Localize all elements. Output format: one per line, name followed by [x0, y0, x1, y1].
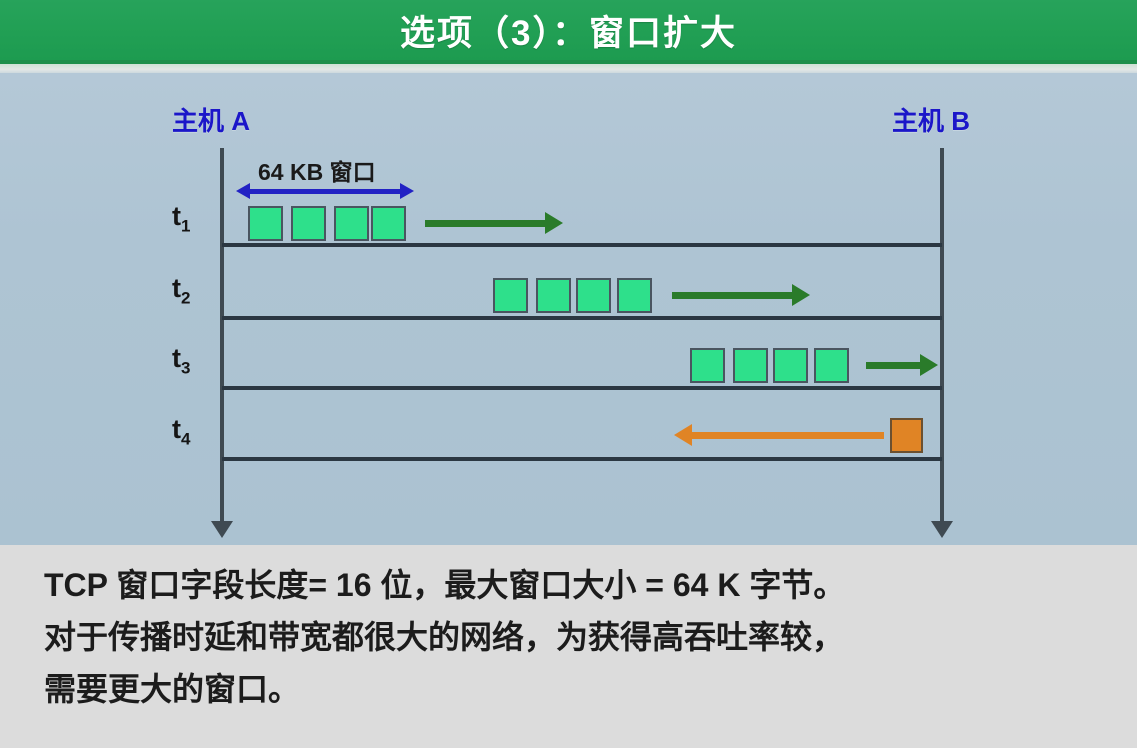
time-label-t3-sub: 3 [181, 358, 190, 377]
host-b-timeline-axis [940, 148, 944, 523]
timeline-row-t3 [222, 386, 942, 390]
timeline-row-t4 [222, 457, 942, 461]
segment-t2-1 [493, 278, 528, 313]
host-a-label: 主机 A [172, 101, 250, 138]
ack-flow-arrow-t4-icon [690, 432, 884, 439]
segment-t3-4 [814, 348, 849, 383]
time-label-t1-sub: 1 [181, 216, 190, 235]
segment-t1-4 [371, 206, 406, 241]
segment-t2-4 [617, 278, 652, 313]
time-label-t3: t3 [172, 343, 190, 378]
caption-block: TCP 窗口字段长度= 16 位，最大窗口大小 = 64 K 字节。 对于传播时… [0, 545, 1137, 748]
caption-line-2: 对于传播时延和带宽都很大的网络，为获得高吞吐率较， [44, 611, 1109, 663]
segment-t4-ack [890, 418, 923, 453]
host-a-axis-arrowhead-icon [211, 521, 233, 538]
window-size-annotation: 64 KB 窗口 [258, 153, 376, 187]
segment-t1-2 [291, 206, 326, 241]
segment-t3-1 [690, 348, 725, 383]
time-label-t4-base: t [172, 414, 181, 444]
data-flow-arrow-t3-icon [866, 362, 922, 369]
caption-line-3: 需要更大的窗口。 [44, 663, 1109, 715]
slide-header: 选项（3）：窗口扩大 [0, 0, 1137, 60]
time-label-t1-base: t [172, 201, 181, 231]
slide: 选项（3）：窗口扩大 主机 A 主机 B 64 KB 窗口 t1 t2 [0, 0, 1137, 748]
header-divider [0, 64, 1137, 73]
segment-t1-1 [248, 206, 283, 241]
segment-t3-3 [773, 348, 808, 383]
time-label-t2-base: t [172, 273, 181, 303]
timeline-row-t2 [222, 316, 942, 320]
host-b-axis-arrowhead-icon [931, 521, 953, 538]
host-b-label: 主机 B [892, 101, 970, 138]
segment-t1-3 [334, 206, 369, 241]
page-title: 选项（3）：窗口扩大 [400, 5, 737, 56]
data-flow-arrow-t1-icon [425, 220, 547, 227]
time-label-t2-sub: 2 [181, 288, 190, 307]
time-label-t4: t4 [172, 414, 190, 449]
segment-t3-2 [733, 348, 768, 383]
time-label-t4-sub: 4 [181, 429, 190, 448]
time-label-t2: t2 [172, 273, 190, 308]
time-label-t3-base: t [172, 343, 181, 373]
data-flow-arrow-t2-icon [672, 292, 794, 299]
host-a-timeline-axis [220, 148, 224, 523]
window-size-double-arrow-icon [249, 189, 401, 194]
timeline-row-t1 [222, 243, 942, 247]
caption-line-1: TCP 窗口字段长度= 16 位，最大窗口大小 = 64 K 字节。 [44, 559, 1109, 611]
segment-t2-3 [576, 278, 611, 313]
segment-t2-2 [536, 278, 571, 313]
tcp-window-diagram: 主机 A 主机 B 64 KB 窗口 t1 t2 t3 [0, 73, 1137, 545]
time-label-t1: t1 [172, 201, 190, 236]
